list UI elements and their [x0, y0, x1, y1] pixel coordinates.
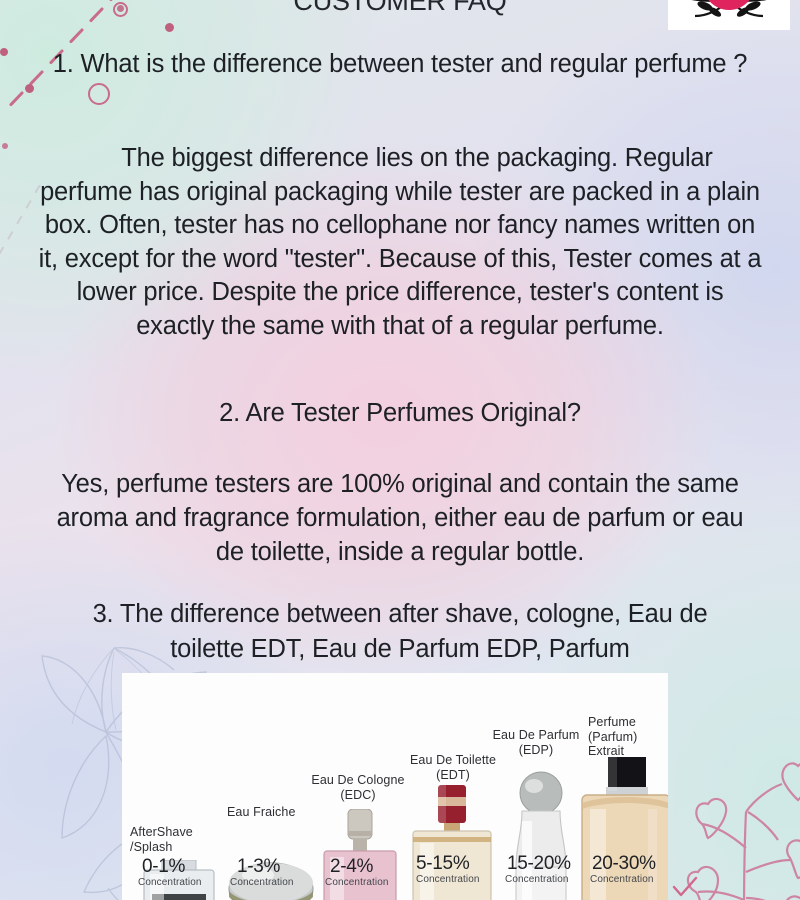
chart-value-eau-fraiche: 1-3%	[237, 856, 280, 878]
chart-value-sub-edt: Concentration	[416, 874, 480, 885]
faq-question-1: 1. What is the difference between tester…	[0, 46, 800, 82]
chart-value-aftershave: 0-1%	[142, 856, 185, 878]
dot-decor	[165, 23, 174, 32]
chart-value-edc: 2-4%	[330, 856, 373, 878]
faq-question-2: 2. Are Tester Perfumes Original?	[0, 399, 800, 428]
chart-value-sub-edc: Concentration	[325, 877, 389, 888]
chart-label-edt: Eau De Toilette (EDT)	[394, 753, 512, 782]
page-title: CUSTOMER FAQ	[0, 0, 800, 17]
ring-decor	[88, 83, 110, 105]
chart-value-sub-aftershave: Concentration	[138, 877, 202, 888]
check-mark-decor	[672, 876, 698, 898]
faq-question-3: 3. The difference between after shave, c…	[0, 597, 800, 667]
dot-decor	[25, 84, 34, 93]
faq-answer-1: The biggest difference lies on the packa…	[0, 142, 800, 343]
chart-label-edp: Eau De Parfum (EDP)	[478, 728, 594, 757]
chart-label-aftershave: AfterShave /Splash	[130, 825, 226, 854]
chart-value-edt: 5-15%	[416, 853, 469, 875]
chart-value-sub-parfum: Concentration	[590, 874, 654, 885]
chart-value-sub-edp: Concentration	[505, 874, 569, 885]
faq-answer-2: Yes, perfume testers are 100% original a…	[0, 467, 800, 569]
faq-poster: CUSTOMER FAQ 1. What is the difference b…	[0, 0, 800, 900]
concentration-chart-panel: AfterShave /Splash Eau Fraiche Eau De Co…	[122, 673, 668, 900]
chart-value-parfum: 20-30%	[592, 853, 656, 875]
chart-value-edp: 15-20%	[507, 853, 571, 875]
chart-label-parfum: Perfume (Parfum) Extrait	[588, 715, 666, 759]
chart-value-sub-eau-fraiche: Concentration	[230, 877, 294, 888]
